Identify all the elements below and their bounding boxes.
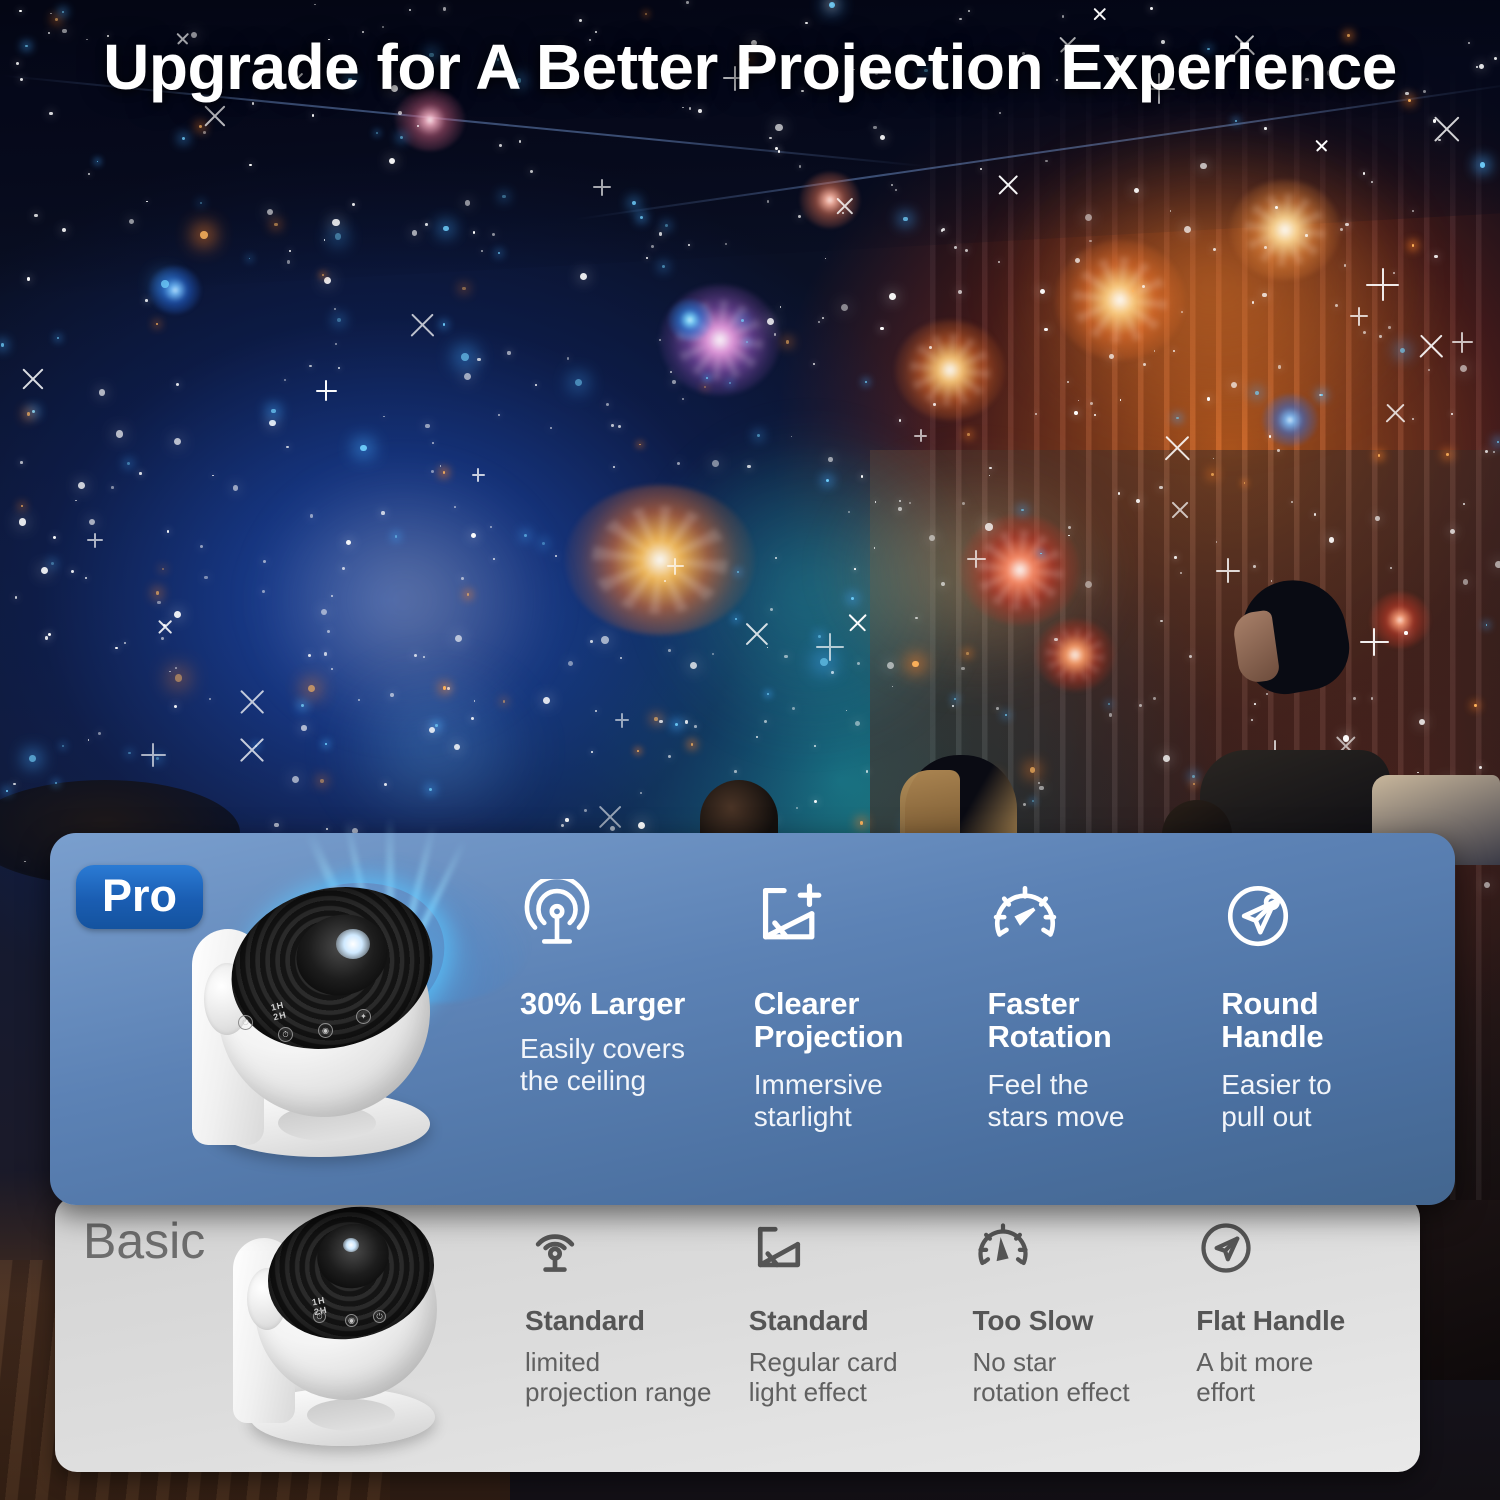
pro-feature-title: Faster Rotation [988,987,1112,1053]
pro-feature-0: 30% Larger Easily covers the ceiling [520,833,754,1205]
basic-feature-3: Flat Handle A bit more effort [1196,1196,1420,1472]
basic-feature-title: Flat Handle [1196,1306,1345,1336]
basic-feature-desc: A bit more effort [1196,1348,1313,1407]
broadcast-signal-icon [520,879,594,953]
basic-feature-title: Standard [749,1306,869,1336]
basic-feature-desc: Regular card light effect [749,1348,898,1407]
basic-feature-1: Standard Regular card light effect [749,1196,973,1472]
broadcast-signal-weak-icon [525,1218,585,1278]
basic-feature-desc: limited projection range [525,1348,711,1407]
basic-feature-list: Standard limited projection range Standa… [525,1196,1420,1472]
paper-plane-circle-icon [1221,879,1295,953]
basic-feature-title: Standard [525,1306,645,1336]
pro-label-zone: Pro 1H 2H ⏻ ⏱ ◉ [50,833,520,1205]
pro-feature-desc: Feel the stars move [988,1069,1125,1133]
image-plus-icon [754,879,828,953]
pro-tier-badge: Pro [76,865,203,929]
image-icon [749,1218,809,1278]
pro-feature-title: Round Handle [1221,987,1323,1053]
basic-feature-title: Too Slow [973,1306,1094,1336]
pro-feature-title: 30% Larger [520,987,685,1020]
speedometer-slow-icon [973,1218,1033,1278]
basic-label-zone: Basic 1H 2H ⏱ ◉ ⏻ [55,1196,525,1472]
pro-feature-desc: Immersive starlight [754,1069,883,1133]
pro-feature-desc: Easier to pull out [1221,1069,1332,1133]
pro-feature-list: 30% Larger Easily covers the ceiling Cle… [520,833,1455,1205]
basic-feature-2: Too Slow No star rotation effect [973,1196,1197,1472]
pro-feature-title: Clearer Projection [754,987,904,1053]
pro-feature-2: Faster Rotation Feel the stars move [988,833,1222,1205]
speedometer-icon [988,879,1062,953]
basic-feature-desc: No star rotation effect [973,1348,1130,1407]
pro-feature-3: Round Handle Easier to pull out [1221,833,1455,1205]
pro-feature-desc: Easily covers the ceiling [520,1033,685,1097]
basic-tier-label: Basic [83,1216,205,1266]
pro-feature-1: Clearer Projection Immersive starlight [754,833,988,1205]
basic-comparison-card: Basic 1H 2H ⏱ ◉ ⏻ [55,1196,1420,1472]
basic-feature-0: Standard limited projection range [525,1196,749,1472]
paper-plane-circle-icon [1196,1218,1256,1278]
pro-comparison-card: Pro 1H 2H ⏻ ⏱ ◉ [50,833,1455,1205]
